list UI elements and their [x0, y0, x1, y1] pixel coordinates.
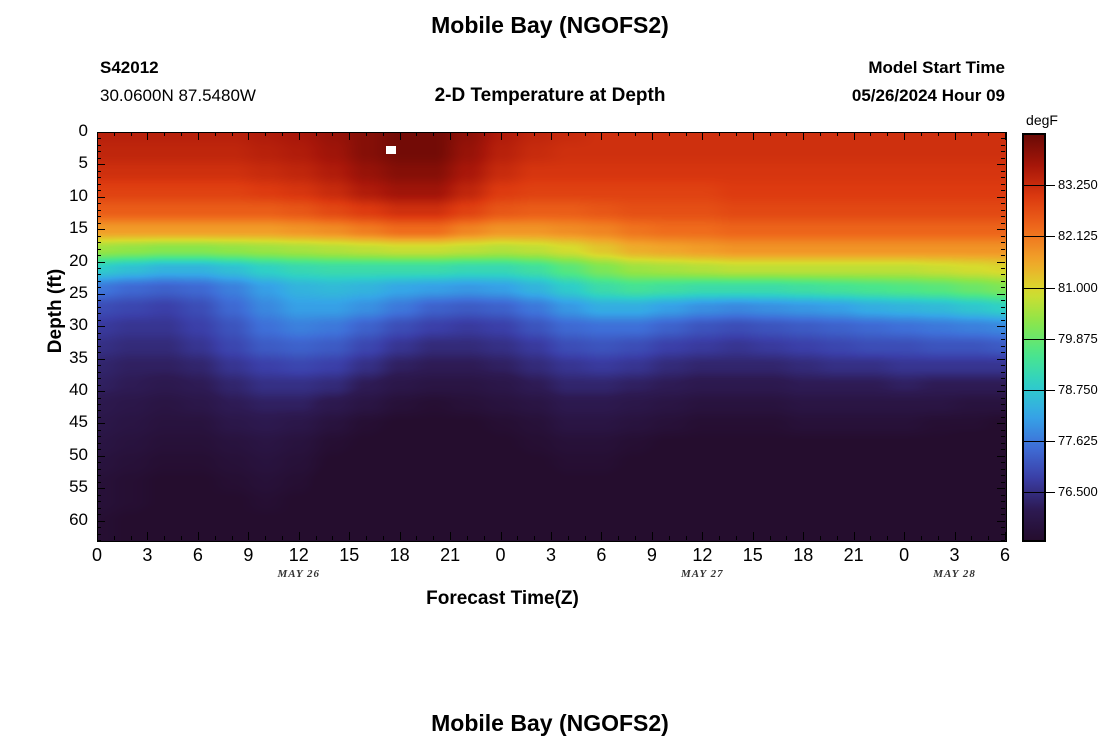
x-date-label: MAY 26 [254, 568, 344, 580]
y-tick-label: 50 [42, 445, 88, 465]
colorbar-tick-label: 76.500 [1058, 484, 1098, 499]
y-tick-label: 15 [42, 218, 88, 238]
colorbar-tick [1046, 339, 1055, 340]
x-tick-label: 0 [77, 545, 117, 566]
colorbar-tick [1046, 185, 1055, 186]
x-tick-label: 9 [632, 545, 672, 566]
x-tick-label: 3 [531, 545, 571, 566]
x-date-label: MAY 27 [657, 568, 747, 580]
x-tick-label: 21 [430, 545, 470, 566]
x-tick-label: 12 [682, 545, 722, 566]
y-tick-label: 55 [42, 477, 88, 497]
x-tick-label: 18 [380, 545, 420, 566]
colorbar-inner-tick [1022, 236, 1046, 237]
y-tick-label: 10 [42, 186, 88, 206]
heatmap-canvas [98, 133, 1006, 541]
x-tick-label: 3 [935, 545, 975, 566]
colorbar-tick [1046, 390, 1055, 391]
colorbar-units-label: degF [1012, 112, 1072, 128]
x-tick-label: 18 [783, 545, 823, 566]
colorbar-tick-label: 77.625 [1058, 433, 1098, 448]
x-tick-label: 0 [481, 545, 521, 566]
colorbar-tick-label: 79.875 [1058, 331, 1098, 346]
station-position-marker [386, 146, 396, 154]
temperature-heatmap-plot [97, 132, 1007, 542]
colorbar-tick-label: 82.125 [1058, 228, 1098, 243]
colorbar-tick-label: 81.000 [1058, 280, 1098, 295]
colorbar-inner-tick [1022, 492, 1046, 493]
model-start-time-label: Model Start Time [700, 58, 1005, 78]
colorbar [1022, 133, 1046, 542]
x-date-label: MAY 28 [910, 568, 1000, 580]
colorbar-inner-tick [1022, 441, 1046, 442]
y-tick-label: 45 [42, 412, 88, 432]
colorbar-tick-label: 83.250 [1058, 177, 1098, 192]
colorbar-inner-tick [1022, 288, 1046, 289]
colorbar-inner-tick [1022, 185, 1046, 186]
y-tick-label: 0 [42, 121, 88, 141]
colorbar-tick-label: 78.750 [1058, 382, 1098, 397]
x-tick-label: 0 [884, 545, 924, 566]
colorbar-inner-tick [1022, 339, 1046, 340]
x-tick-label: 6 [581, 545, 621, 566]
x-tick-label: 6 [985, 545, 1025, 566]
page-title: Mobile Bay (NGOFS2) [0, 12, 1100, 39]
x-tick-label: 12 [279, 545, 319, 566]
x-tick-label: 3 [127, 545, 167, 566]
x-tick-label: 6 [178, 545, 218, 566]
colorbar-tick [1046, 441, 1055, 442]
colorbar-tick [1046, 288, 1055, 289]
x-tick-label: 9 [228, 545, 268, 566]
x-tick-label: 15 [733, 545, 773, 566]
y-tick-label: 60 [42, 510, 88, 530]
y-tick-label: 5 [42, 153, 88, 173]
model-start-time-value: 05/26/2024 Hour 09 [700, 86, 1005, 106]
station-id-label: S42012 [100, 58, 159, 78]
colorbar-tick [1046, 236, 1055, 237]
x-tick-label: 15 [329, 545, 369, 566]
x-tick-label: 21 [834, 545, 874, 566]
colorbar-gradient [1022, 133, 1046, 542]
y-tick-label: 40 [42, 380, 88, 400]
colorbar-inner-tick [1022, 390, 1046, 391]
x-axis-title: Forecast Time(Z) [0, 588, 1005, 610]
footer-title: Mobile Bay (NGOFS2) [0, 710, 1100, 737]
colorbar-tick [1046, 492, 1055, 493]
y-axis-title: Depth (ft) [45, 241, 67, 381]
